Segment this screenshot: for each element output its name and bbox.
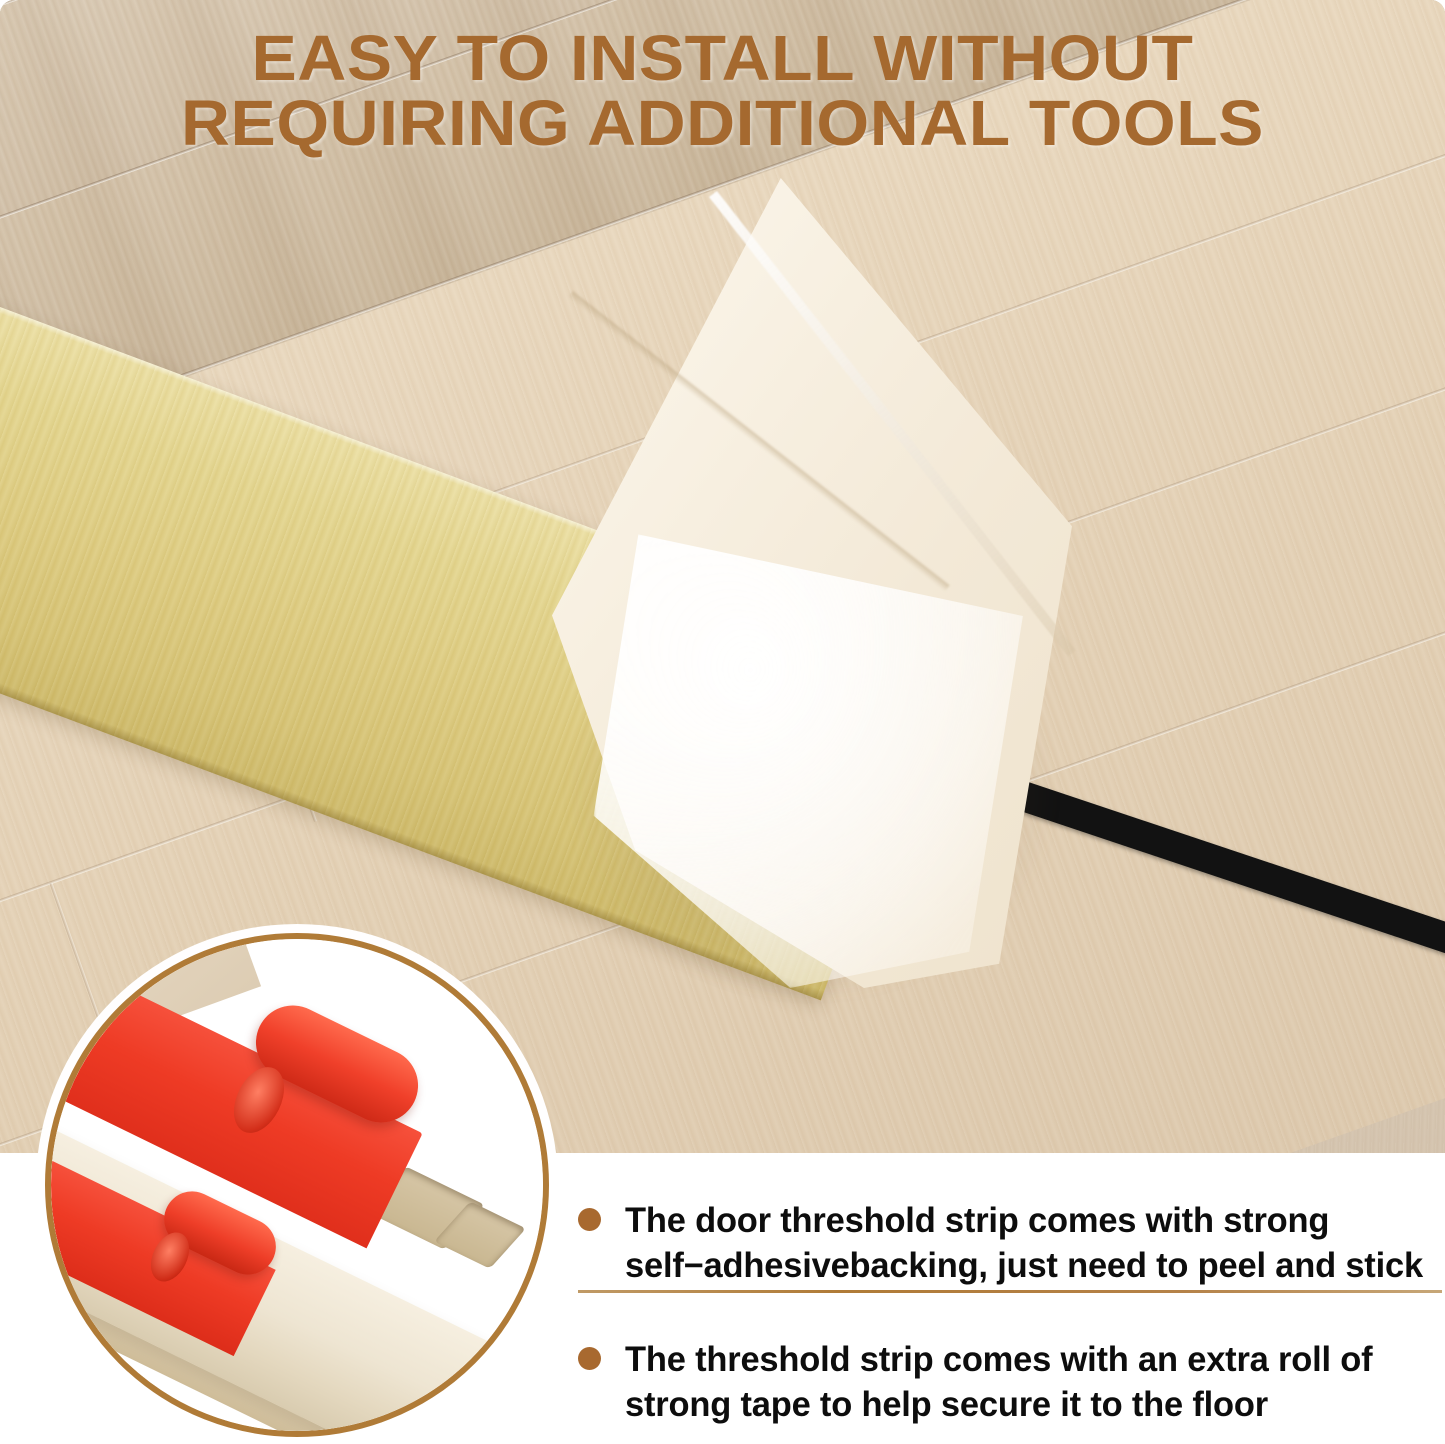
feature-bullet-list: The door threshold strip comes with stro… xyxy=(578,1153,1445,1444)
feature-text-2: The threshold strip comes with an extra … xyxy=(625,1338,1433,1428)
bullet-dot-icon xyxy=(578,1208,601,1231)
page-title: EASY TO INSTALL WITHOUT REQUIRING ADDITI… xyxy=(0,26,1445,157)
bullet-dot-icon xyxy=(578,1347,601,1370)
list-item: The threshold strip comes with an extra … xyxy=(578,1338,1445,1428)
feature-text-1: The door threshold strip comes with stro… xyxy=(625,1199,1433,1289)
feature-divider xyxy=(578,1290,1442,1293)
list-item: The door threshold strip comes with stro… xyxy=(578,1199,1445,1289)
detail-inset-image xyxy=(51,939,543,1431)
product-infographic: EASY TO INSTALL WITHOUT REQUIRING ADDITI… xyxy=(0,0,1445,1444)
detail-inset-circle xyxy=(45,933,549,1437)
threshold-strip-product xyxy=(552,178,1072,988)
